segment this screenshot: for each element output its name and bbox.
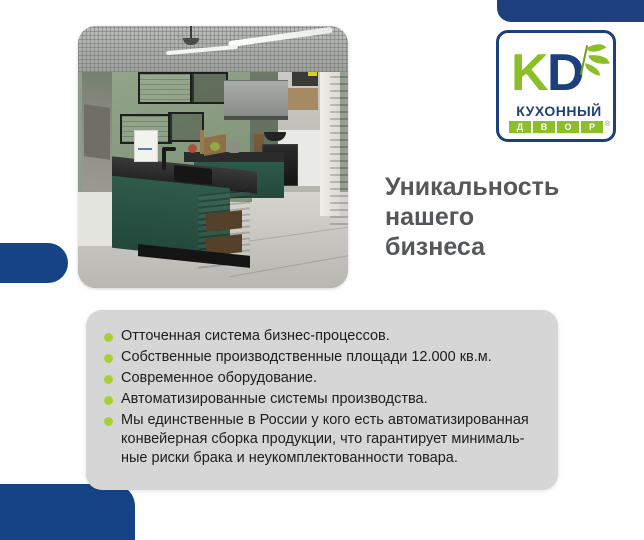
photo-decor-object [188,144,197,153]
photo-open-shelf-frame [190,72,228,104]
list-item-text: Мы единственные в России у кого есть авт… [121,411,529,468]
photo-upper-cabinet-gray [224,80,288,117]
photo-scene [78,26,348,288]
list-item: Автоматизированные системы производства. [104,390,546,409]
logo-word-dvor: Д В О Р [509,121,603,133]
photo-decor-object [210,142,220,151]
list-item: Собственные производственные площади 12.… [104,348,546,367]
photo-back-countertop [184,152,284,162]
list-item-line: Отточенная система бизнес-процессов. [121,327,390,346]
bullet-dot-icon [104,354,113,363]
photo-open-shelf [206,210,242,232]
decor-left-pill [0,243,68,283]
bullet-dot-icon [104,417,113,426]
bullet-dot-icon [104,375,113,384]
avito-watermark: Avito [529,505,603,529]
logo-dvor-letter: Р [581,121,603,133]
photo-cabinet-underside [224,116,288,120]
list-item-line: конвейерная сборка продукции, что гарант… [121,430,529,449]
logo-word-kuhonny: КУХОННЫЙ [509,103,609,119]
leaf-icon [583,63,602,76]
showroom-photo [78,26,348,288]
photo-upper-cabinet-wood [138,72,194,104]
logo-letter-k: K [511,47,547,99]
decor-bottom-left-block [0,484,135,540]
list-item: Отточенная система бизнес-процессов. [104,327,546,346]
registered-mark-icon: ® [605,121,610,128]
list-item-line: ные риски брака и неукомплектованности т… [121,449,529,468]
bullet-dot-icon [104,396,113,405]
photo-open-shelf-frame [168,112,204,142]
page-title: Уникальность нашего бизнеса [385,172,615,262]
page-title-line-3: бизнеса [385,232,615,262]
list-item-text: Собственные производственные площади 12.… [121,348,492,367]
list-item-text: Отточенная система бизнес-процессов. [121,327,390,346]
logo-inner: K D КУХОННЫЙ Д В О Р ® [499,33,613,139]
list-item-line: Собственные производственные площади 12.… [121,348,492,367]
avito-circle [541,516,550,525]
list-item: Современное оборудование. [104,369,546,388]
photo-left-white-unit [78,192,112,246]
logo-dvor-letter: О [557,121,579,133]
benefits-card: Отточенная система бизнес-процессов. Соб… [86,310,558,490]
avito-circle [539,507,546,514]
avito-logo-icon [529,507,551,527]
brand-logo: K D КУХОННЫЙ Д В О Р ® [496,30,616,142]
photo-poster-image [84,104,110,160]
page-title-line-1: Уникальность [385,172,615,202]
photo-back-shelf [284,88,318,110]
avito-circle [534,507,539,512]
list-item-text: Автоматизированные системы производства. [121,390,428,409]
photo-faucet-arm [162,147,176,151]
avito-circle [529,512,540,523]
decor-top-right-bar [497,0,644,22]
list-item-line: Автоматизированные системы производства. [121,390,428,409]
list-item-line: Современное оборудование. [121,369,317,388]
bullet-dot-icon [104,333,113,342]
photo-decor-kettle [228,142,240,153]
photo-leaflet-line [138,148,152,150]
logo-dvor-letter: В [533,121,555,133]
promo-slide: K D КУХОННЫЙ Д В О Р ® Уникальность наше… [0,0,644,540]
logo-dvor-letter: Д [509,121,531,133]
list-item-text: Современное оборудование. [121,369,317,388]
list-item-line: Мы единственные в России у кого есть авт… [121,411,529,430]
logo-letter-d: D [547,47,585,99]
page-title-line-2: нашего [385,202,615,232]
list-item: Мы единственные в России у кого есть авт… [104,411,546,468]
avito-wordmark: Avito [554,505,603,529]
photo-leaflet [134,130,158,162]
photo-faucet [162,148,166,170]
benefits-list: Отточенная система бизнес-процессов. Соб… [104,327,546,470]
